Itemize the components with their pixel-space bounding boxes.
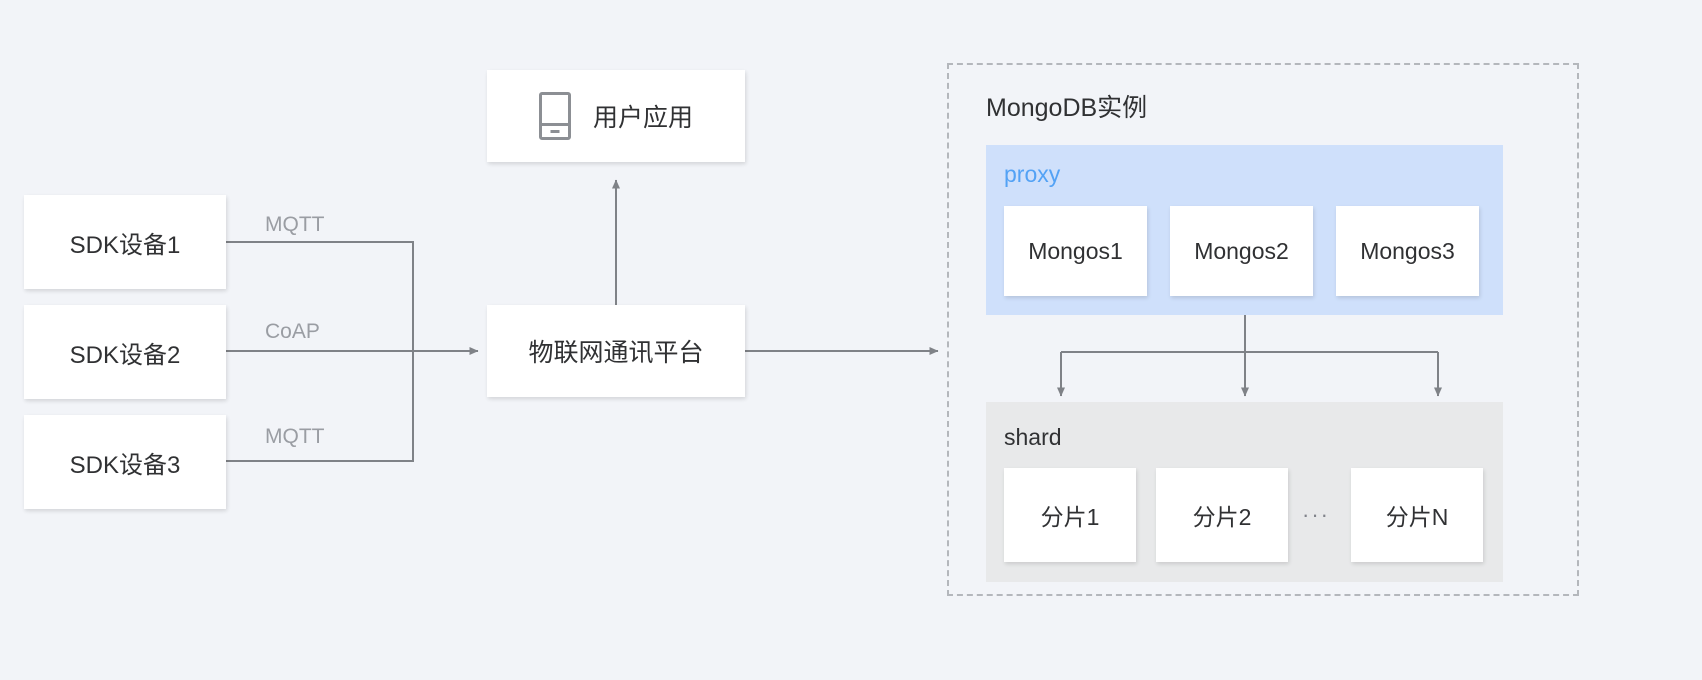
node-sdk-device-2[interactable]: SDK设备2 xyxy=(24,305,226,399)
shard-group: shard 分片1 分片2 ··· 分片N xyxy=(986,402,1503,582)
shard-group-label: shard xyxy=(1004,424,1062,451)
diagram-canvas: SDK设备1 SDK设备2 SDK设备3 MQTT CoAP MQTT 用户应用… xyxy=(0,0,1702,680)
mongodb-instance-title: MongoDB实例 xyxy=(986,88,1147,124)
node-sdk-device-1[interactable]: SDK设备1 xyxy=(24,195,226,289)
node-label: SDK设备3 xyxy=(70,445,181,480)
node-label: 分片1 xyxy=(1041,498,1100,532)
node-label: SDK设备2 xyxy=(70,335,181,370)
node-shard-1[interactable]: 分片1 xyxy=(1004,468,1136,562)
node-label: Mongos3 xyxy=(1360,238,1455,265)
wire-label-mqtt-2: MQTT xyxy=(265,425,324,449)
node-label: 分片2 xyxy=(1193,498,1252,532)
node-mongos-1[interactable]: Mongos1 xyxy=(1004,206,1147,296)
node-label: Mongos1 xyxy=(1028,238,1123,265)
proxy-group-label: proxy xyxy=(1004,161,1060,188)
node-mongos-2[interactable]: Mongos2 xyxy=(1170,206,1313,296)
node-label: 用户应用 xyxy=(593,98,693,134)
node-shard-n[interactable]: 分片N xyxy=(1351,468,1483,562)
mobile-phone-icon xyxy=(539,92,571,140)
node-label: 物联网通讯平台 xyxy=(528,333,703,369)
node-shard-2[interactable]: 分片2 xyxy=(1156,468,1288,562)
proxy-group: proxy Mongos1 Mongos2 Mongos3 xyxy=(986,145,1503,315)
wire-label-mqtt-1: MQTT xyxy=(265,213,324,237)
wire-label-coap: CoAP xyxy=(265,320,320,344)
node-label: SDK设备1 xyxy=(70,225,181,260)
node-sdk-device-3[interactable]: SDK设备3 xyxy=(24,415,226,509)
node-user-application[interactable]: 用户应用 xyxy=(487,70,745,162)
node-label: 分片N xyxy=(1386,498,1449,532)
node-iot-platform[interactable]: 物联网通讯平台 xyxy=(487,305,745,397)
shard-ellipsis: ··· xyxy=(1302,502,1330,528)
node-label: Mongos2 xyxy=(1194,238,1289,265)
node-mongos-3[interactable]: Mongos3 xyxy=(1336,206,1479,296)
